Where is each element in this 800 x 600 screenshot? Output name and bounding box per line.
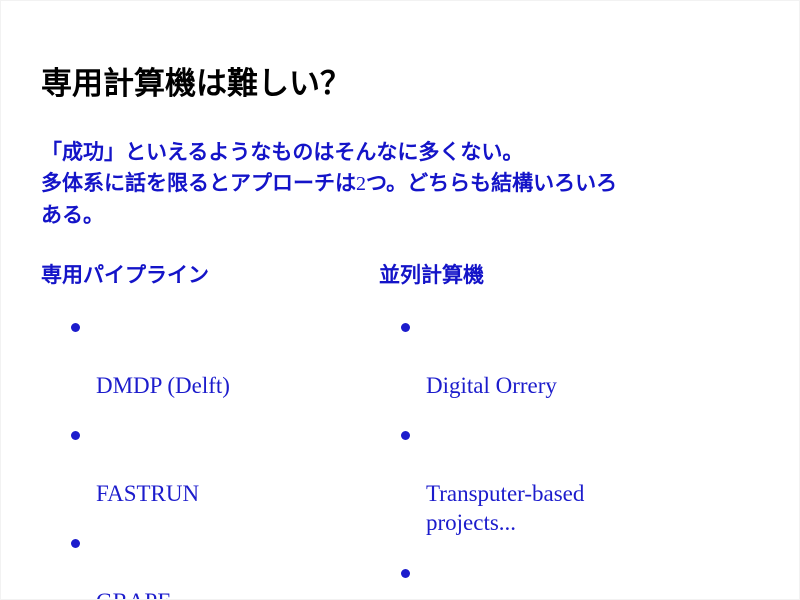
- column-header-parallel-computer: 並列計算機: [379, 259, 484, 289]
- bullet-list-parallel-computer: Digital Orrery Transputer-based projects…: [399, 313, 739, 600]
- intro-line-1: 「成功」といえるようなものはそんなに多くない。: [41, 137, 771, 168]
- bullet-dot-icon: [71, 323, 80, 332]
- list-item: Transputer-based projects...: [399, 421, 739, 537]
- bullet-dot-icon: [71, 431, 80, 440]
- intro-line-2: 多体系に話を限るとアプローチは2つ。どちらも結構いろいろ: [41, 168, 771, 200]
- intro-line-2-after: つ。どちらも結構いろいろ: [366, 171, 617, 195]
- bullet-dot-icon: [401, 431, 410, 440]
- bullet-dot-icon: [401, 569, 410, 578]
- column-header-dedicated-pipeline: 専用パイプライン: [41, 259, 209, 289]
- presentation-slide: 専用計算機は難しい？ 「成功」といえるようなものはそんなに多くない。 多体系に話…: [0, 0, 800, 600]
- intro-line-2-before: 多体系に話を限るとアプローチは: [41, 171, 356, 195]
- list-item: Digital Orrery: [399, 313, 739, 400]
- list-item: FASTRUN: [69, 421, 369, 508]
- list-item-label: Digital Orrery: [426, 373, 557, 398]
- list-item-label: GRAPE: [96, 589, 171, 600]
- page-title: 専用計算機は難しい？: [41, 67, 351, 101]
- list-item: DMDP (Delft): [69, 313, 369, 400]
- intro-line-2-digit: 2: [356, 173, 366, 195]
- list-item-label: FASTRUN: [96, 481, 199, 506]
- bullet-dot-icon: [71, 539, 80, 548]
- intro-paragraph: 「成功」といえるようなものはそんなに多くない。 多体系に話を限るとアプローチは2…: [41, 137, 771, 231]
- list-item-label: DMDP (Delft): [96, 373, 230, 398]
- bullet-dot-icon: [401, 323, 410, 332]
- list-item: GRAPE: [69, 529, 369, 600]
- bullet-list-dedicated-pipeline: DMDP (Delft) FASTRUN GRAPE MD-Engine MDM: [69, 313, 369, 600]
- list-item: HaMM: [399, 559, 739, 600]
- intro-line-3: ある。: [41, 200, 771, 231]
- list-item-label: Transputer-based projects...: [426, 481, 584, 535]
